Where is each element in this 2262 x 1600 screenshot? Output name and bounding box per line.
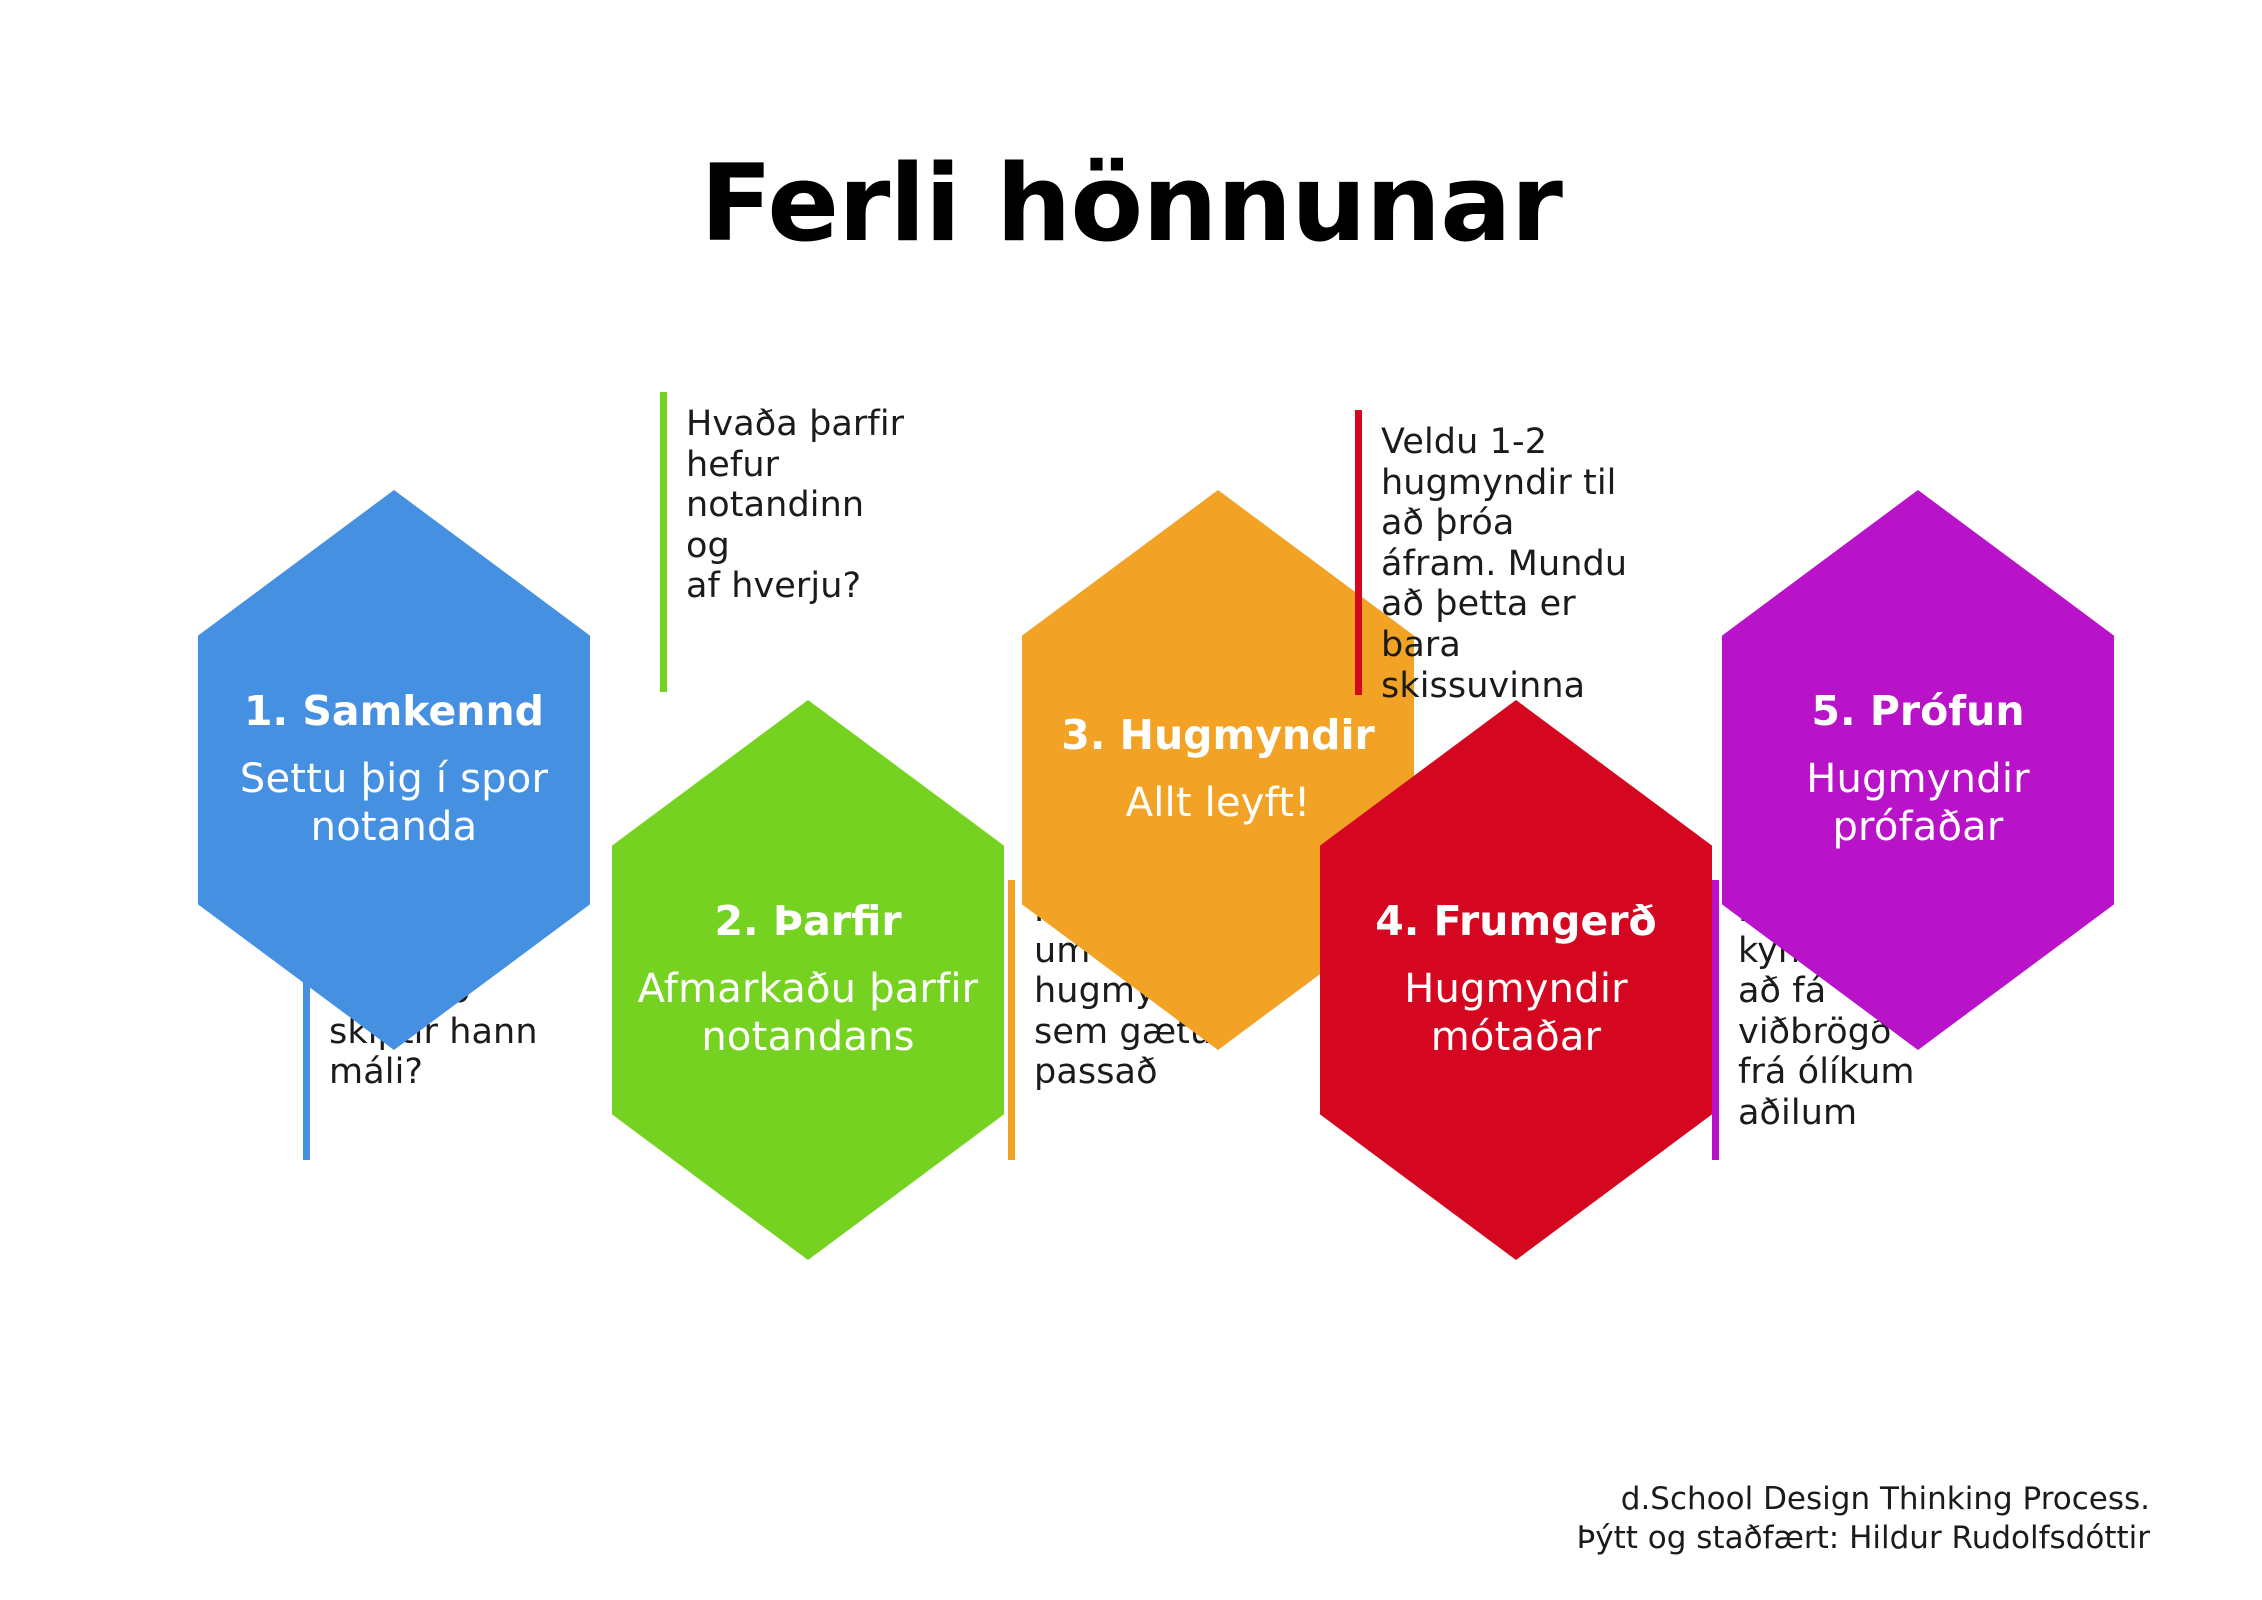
connector-rule-3 [1008,880,1015,1160]
step-hexagon-2[interactable]: 2. Þarfir Afmarkaðu þarfir notandans [612,700,1004,1260]
step-caption-text-2: Hvaða þarfir hefur notandinn og af hverj… [667,392,904,607]
connector-rule-2 [660,392,667,692]
step-caption-4: Veldu 1-2 hugmyndir til að þróa áfram. M… [1355,410,1627,695]
connector-rule-5 [1712,880,1719,1160]
step-title-5: 5. Prófun [1811,689,2024,735]
connector-rule-4 [1355,410,1362,695]
step-title-2: 2. Þarfir [714,899,901,945]
step-caption-2: Hvaða þarfir hefur notandinn og af hverj… [660,392,904,692]
step-subtitle-1: Settu þig í spor notanda [208,755,580,851]
step-title-1: 1. Samkennd [244,689,544,735]
step-subtitle-5: Hugmyndir prófaðar [1732,755,2104,851]
step-subtitle-2: Afmarkaðu þarfir notandans [622,965,994,1061]
step-subtitle-4: Hugmyndir mótaðar [1330,965,1702,1061]
step-title-4: 4. Frumgerð [1375,899,1656,945]
credit-note: d.School Design Thinking Process. Þýtt o… [1577,1480,2150,1558]
step-title-3: 3. Hugmyndir [1061,713,1375,759]
step-caption-text-4: Veldu 1-2 hugmyndir til að þróa áfram. M… [1362,410,1627,706]
design-process-diagram: Hver er notandinn og hvað skiptir hann m… [0,0,2262,1600]
step-subtitle-3: Allt leyft! [1126,779,1311,827]
